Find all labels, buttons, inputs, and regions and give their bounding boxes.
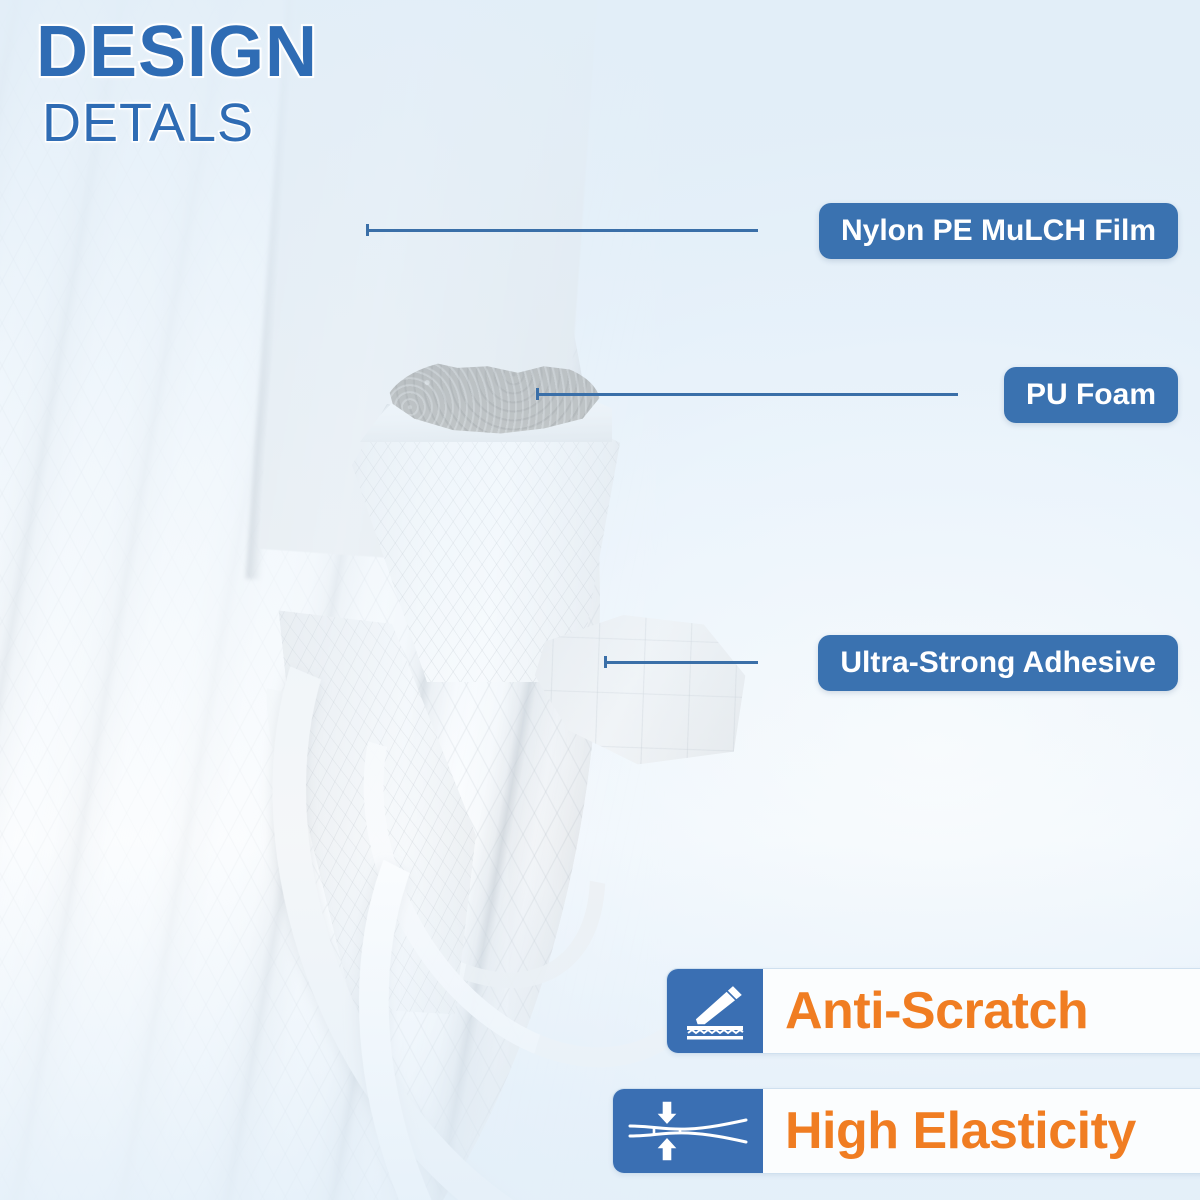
callout-label: Ultra-Strong Adhesive <box>840 646 1156 680</box>
lead-line-film <box>366 229 758 232</box>
blade-scratch-icon <box>667 969 763 1053</box>
title-line-2: DETALS <box>42 96 318 150</box>
callout-label: PU Foam <box>1026 378 1156 412</box>
feature-high-elasticity[interactable]: High Elasticity <box>612 1088 1200 1174</box>
feature-label: High Elasticity <box>763 1089 1200 1173</box>
lead-line-adhesive <box>604 661 758 664</box>
callout-label: Nylon PE MuLCH Film <box>841 214 1156 248</box>
compression-arrows-icon <box>613 1089 763 1173</box>
callout-nylon-pe-mulch-film[interactable]: Nylon PE MuLCH Film <box>819 203 1178 259</box>
lead-line-foam <box>536 393 958 396</box>
product-photo <box>0 0 700 1200</box>
product-infographic: DESIGN DETALS Nylon PE MuLCH Film PU Foa… <box>0 0 1200 1200</box>
feature-anti-scratch[interactable]: Anti-Scratch <box>666 968 1200 1054</box>
callout-ultra-strong-adhesive[interactable]: Ultra-Strong Adhesive <box>818 635 1178 691</box>
callout-pu-foam[interactable]: PU Foam <box>1004 367 1178 423</box>
feature-label: Anti-Scratch <box>763 969 1200 1053</box>
page-title: DESIGN DETALS <box>36 16 318 150</box>
title-line-1: DESIGN <box>36 16 318 88</box>
